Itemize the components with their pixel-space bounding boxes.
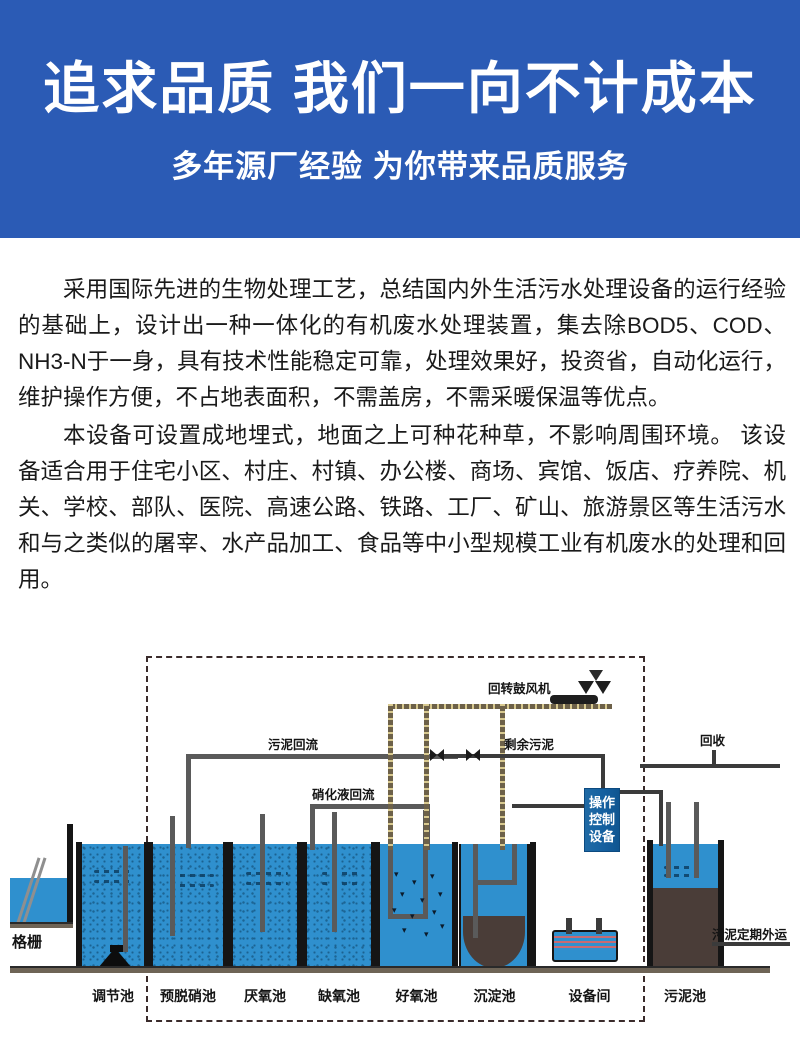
mixer-shaft	[170, 816, 175, 936]
sludge-lateral	[473, 880, 517, 885]
body-copy: 采用国际先进的生物处理工艺，总结国内外生活污水处理设备的运行经验的基础上，设计出…	[18, 272, 786, 598]
grating-assembly	[10, 860, 72, 924]
wave-mark	[322, 872, 362, 875]
header-banner: 追求品质 我们一向不计成本 多年源厂经验 为你带来品质服务	[0, 0, 800, 238]
sludge-tank-feed	[659, 790, 663, 846]
wave-mark	[170, 874, 214, 877]
tank-label-6: 设备间	[534, 986, 645, 1006]
bubble: ▾	[424, 930, 429, 939]
tank-anaerobic	[230, 844, 300, 968]
bubble: ▾	[410, 912, 415, 921]
banner-title: 追求品质 我们一向不计成本	[43, 60, 757, 119]
control-box-line-3: 设备	[589, 829, 615, 844]
sludge-return-label: 污泥回流	[268, 734, 318, 753]
wave-mark	[170, 884, 214, 887]
nitrification-return-riser-left	[310, 804, 315, 850]
bubble: ▾	[412, 878, 417, 887]
pump-outlet	[110, 945, 124, 952]
water-texture-2	[304, 844, 374, 968]
recovery-line	[640, 764, 780, 768]
device-stripe	[554, 936, 616, 938]
tank-water	[150, 844, 226, 968]
tank-wall-left	[374, 842, 380, 968]
control-box-line-1: 操作	[589, 795, 615, 810]
grating-base	[10, 922, 73, 928]
wave-mark	[246, 872, 288, 875]
wave-mark	[94, 880, 134, 883]
effluent-pipe	[512, 844, 517, 884]
valve-2-icon	[466, 749, 480, 761]
tank-regulating	[80, 844, 146, 968]
tank-wall-left	[227, 842, 233, 968]
tank-wall-left	[301, 842, 307, 968]
tank-label-4: 好氧池	[378, 986, 455, 1006]
bubble: ▾	[430, 872, 435, 881]
ground-line	[10, 966, 770, 973]
banner-subtitle: 多年源厂经验 为你带来品质服务	[171, 141, 629, 186]
grating-right-wall	[67, 824, 73, 924]
control-equipment-box[interactable]: 操作 控制 设备	[584, 788, 620, 852]
tank-wall-left	[459, 844, 461, 968]
bubble: ▾	[394, 870, 399, 879]
sludge-layer	[652, 888, 720, 968]
tank-sludge	[652, 844, 720, 968]
bubble: ▾	[400, 890, 405, 899]
tank-wall-left	[647, 840, 653, 968]
excess-sludge-line	[440, 754, 605, 758]
grating-label: 格栅	[12, 931, 42, 952]
sludge-return-header	[186, 754, 458, 759]
air-riser-2	[424, 704, 429, 850]
nitrification-return-header	[310, 804, 430, 809]
blower-blade-right	[595, 681, 611, 694]
device-stripe	[554, 946, 616, 948]
tank-water	[230, 844, 300, 968]
blower-blade-left	[578, 681, 594, 694]
equipment-room	[534, 844, 645, 968]
bubble: ▾	[440, 922, 445, 931]
sludge-vent-pipe	[694, 802, 699, 878]
tank-label-0: 调节池	[78, 986, 148, 1006]
blower-icon	[578, 670, 612, 696]
tank-wall-left	[147, 842, 153, 968]
mixer-shaft	[332, 812, 337, 932]
tank-pre-denitrification	[150, 844, 226, 968]
tank-anoxic	[304, 844, 374, 968]
water-texture-2	[150, 844, 226, 968]
wave-mark	[94, 870, 134, 873]
control-box-line-2: 控制	[589, 812, 615, 827]
recovery-stub	[712, 750, 716, 766]
bubble: ▾	[438, 890, 443, 899]
recovery-label: 回收	[700, 730, 725, 749]
sludge-inlet-pipe	[666, 802, 671, 878]
pump-riser-pipe	[123, 846, 128, 952]
blower-blade-top	[589, 670, 603, 681]
tank-water	[304, 844, 374, 968]
process-flow-diagram: 格栅	[0, 648, 800, 1040]
equipment-device	[552, 930, 618, 962]
air-riser-1	[388, 704, 393, 850]
wave-mark	[246, 882, 288, 885]
excess-sludge-label: 剩余污泥	[504, 734, 554, 753]
sludge-haul-label: 污泥定期外运	[712, 924, 787, 943]
tank-wall-right	[718, 840, 724, 968]
device-outlet-stub	[596, 918, 602, 934]
valve-1-icon	[430, 749, 444, 761]
tank-wall-right	[452, 842, 458, 968]
bubble: ▾	[402, 926, 407, 935]
blower-label: 回转鼓风机	[488, 678, 551, 697]
tank-label-1: 预脱硝池	[152, 986, 224, 1006]
room-wall-left	[530, 842, 536, 968]
bubble: ▾	[432, 908, 437, 917]
tank-wall-left	[76, 842, 82, 968]
device-inlet-stub	[566, 918, 572, 934]
wave-mark	[322, 882, 362, 885]
water-texture-2	[230, 844, 300, 968]
device-stripe	[554, 941, 616, 943]
nitrification-return-label: 硝化液回流	[312, 784, 375, 803]
tank-label-5: 沉淀池	[459, 986, 530, 1006]
tank-label-3: 缺氧池	[304, 986, 374, 1006]
tank-label-7: 污泥池	[650, 986, 720, 1006]
tank-label-2: 厌氧池	[230, 986, 300, 1006]
bubble: ▾	[420, 896, 425, 905]
bubble: ▾	[392, 906, 397, 915]
paragraph-2: 本设备可设置成地埋式，地面之上可种花种草，不影响周围环境。 该设备适合用于住宅小…	[18, 418, 786, 598]
tank-aerobic: ▾ ▾ ▾ ▾ ▾ ▾ ▾ ▾ ▾ ▾ ▾ ▾	[378, 844, 455, 968]
sludge-return-riser-left	[186, 754, 191, 848]
sludge-draw-pipe	[473, 844, 478, 938]
tank-sedimentation	[459, 844, 530, 968]
blower-body	[550, 695, 598, 704]
air-riser-3	[500, 704, 505, 850]
mixer-shaft	[260, 814, 265, 932]
paragraph-1: 采用国际先进的生物处理工艺，总结国内外生活污水处理设备的运行经验的基础上，设计出…	[18, 272, 786, 416]
